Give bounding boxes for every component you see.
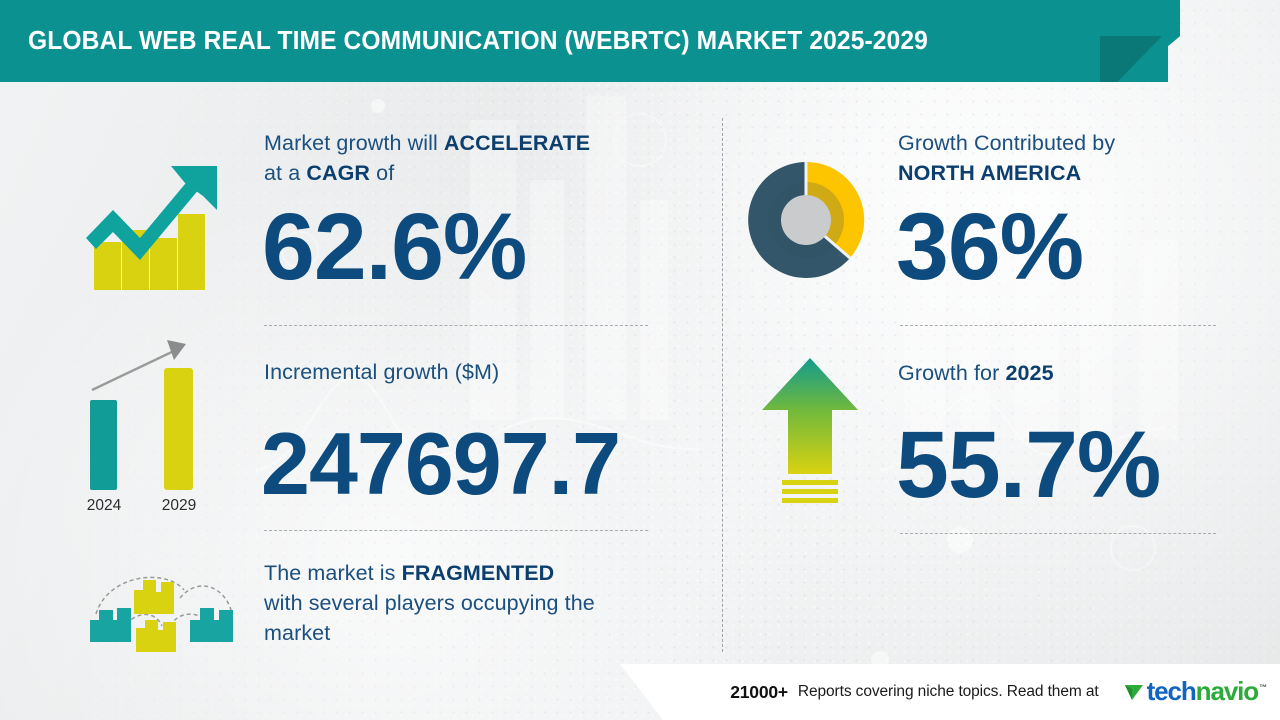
logo-trademark: ™ [1259,683,1266,692]
bar-label-2024: 2024 [87,497,122,514]
bar-label-2029: 2029 [162,497,196,514]
column-divider [722,118,723,652]
yearly-line1-prefix: Growth for [898,361,1005,385]
incremental-label: Incremental growth ($M) [264,357,684,387]
left-divider-1 [264,325,648,326]
fragmentation-line3: market [264,621,330,645]
region-line2-strong: NORTH AMERICA [898,161,1081,185]
cagr-line2-prefix: at a [264,161,306,185]
fragmentation-line2: with several players occupying the [264,591,595,615]
fragmentation-caption: The market is FRAGMENTED with several pl… [264,558,684,648]
cagr-value: 62.6% [262,200,526,295]
cagr-line2-strong: CAGR [306,161,370,185]
right-divider-2 [900,533,1216,534]
footer-tagline: Reports covering niche topics. Read them… [798,683,1099,701]
footer: 21000+ Reports covering niche topics. Re… [0,664,1280,720]
city-cluster-network-icon [74,568,246,654]
logo-text-tech: tech [1147,676,1196,706]
region-line1: Growth Contributed by [898,131,1115,155]
fragmentation-line1-prefix: The market is [264,561,402,585]
technavio-arrow-icon [1123,680,1145,704]
donut-chart-icon [744,158,868,282]
two-bar-chart-icon: 2024 2029 [64,330,224,520]
technavio-logo[interactable]: technavio™ [1123,679,1266,705]
yearly-line1-strong: 2025 [1005,361,1053,385]
footer-band [620,664,1280,720]
report-count: 21000+ [730,682,788,703]
right-divider-1 [900,325,1216,326]
cagr-line1-strong: ACCELERATE [444,131,590,155]
incremental-value: 247697.7 [261,420,620,508]
cagr-line1-prefix: Market growth will [264,131,444,155]
cagr-caption: Market growth will ACCELERATE at a CAGR … [264,128,684,188]
region-value: 36% [896,200,1083,295]
cagr-line2-suffix: of [370,161,394,185]
yearly-value: 55.7% [896,418,1160,513]
up-arrow-gradient-icon [758,356,862,508]
left-divider-2 [264,530,648,531]
yearly-caption: Growth for 2025 [898,358,1228,388]
logo-text-navio: navio [1196,676,1258,706]
growth-bar-arrow-icon [72,152,232,292]
region-caption: Growth Contributed by NORTH AMERICA [898,128,1228,188]
fragmentation-line1-strong: FRAGMENTED [402,561,555,585]
page-title: GLOBAL WEB REAL TIME COMMUNICATION (WEBR… [28,0,928,82]
infographic-root: GLOBAL WEB REAL TIME COMMUNICATION (WEBR… [0,0,1280,720]
